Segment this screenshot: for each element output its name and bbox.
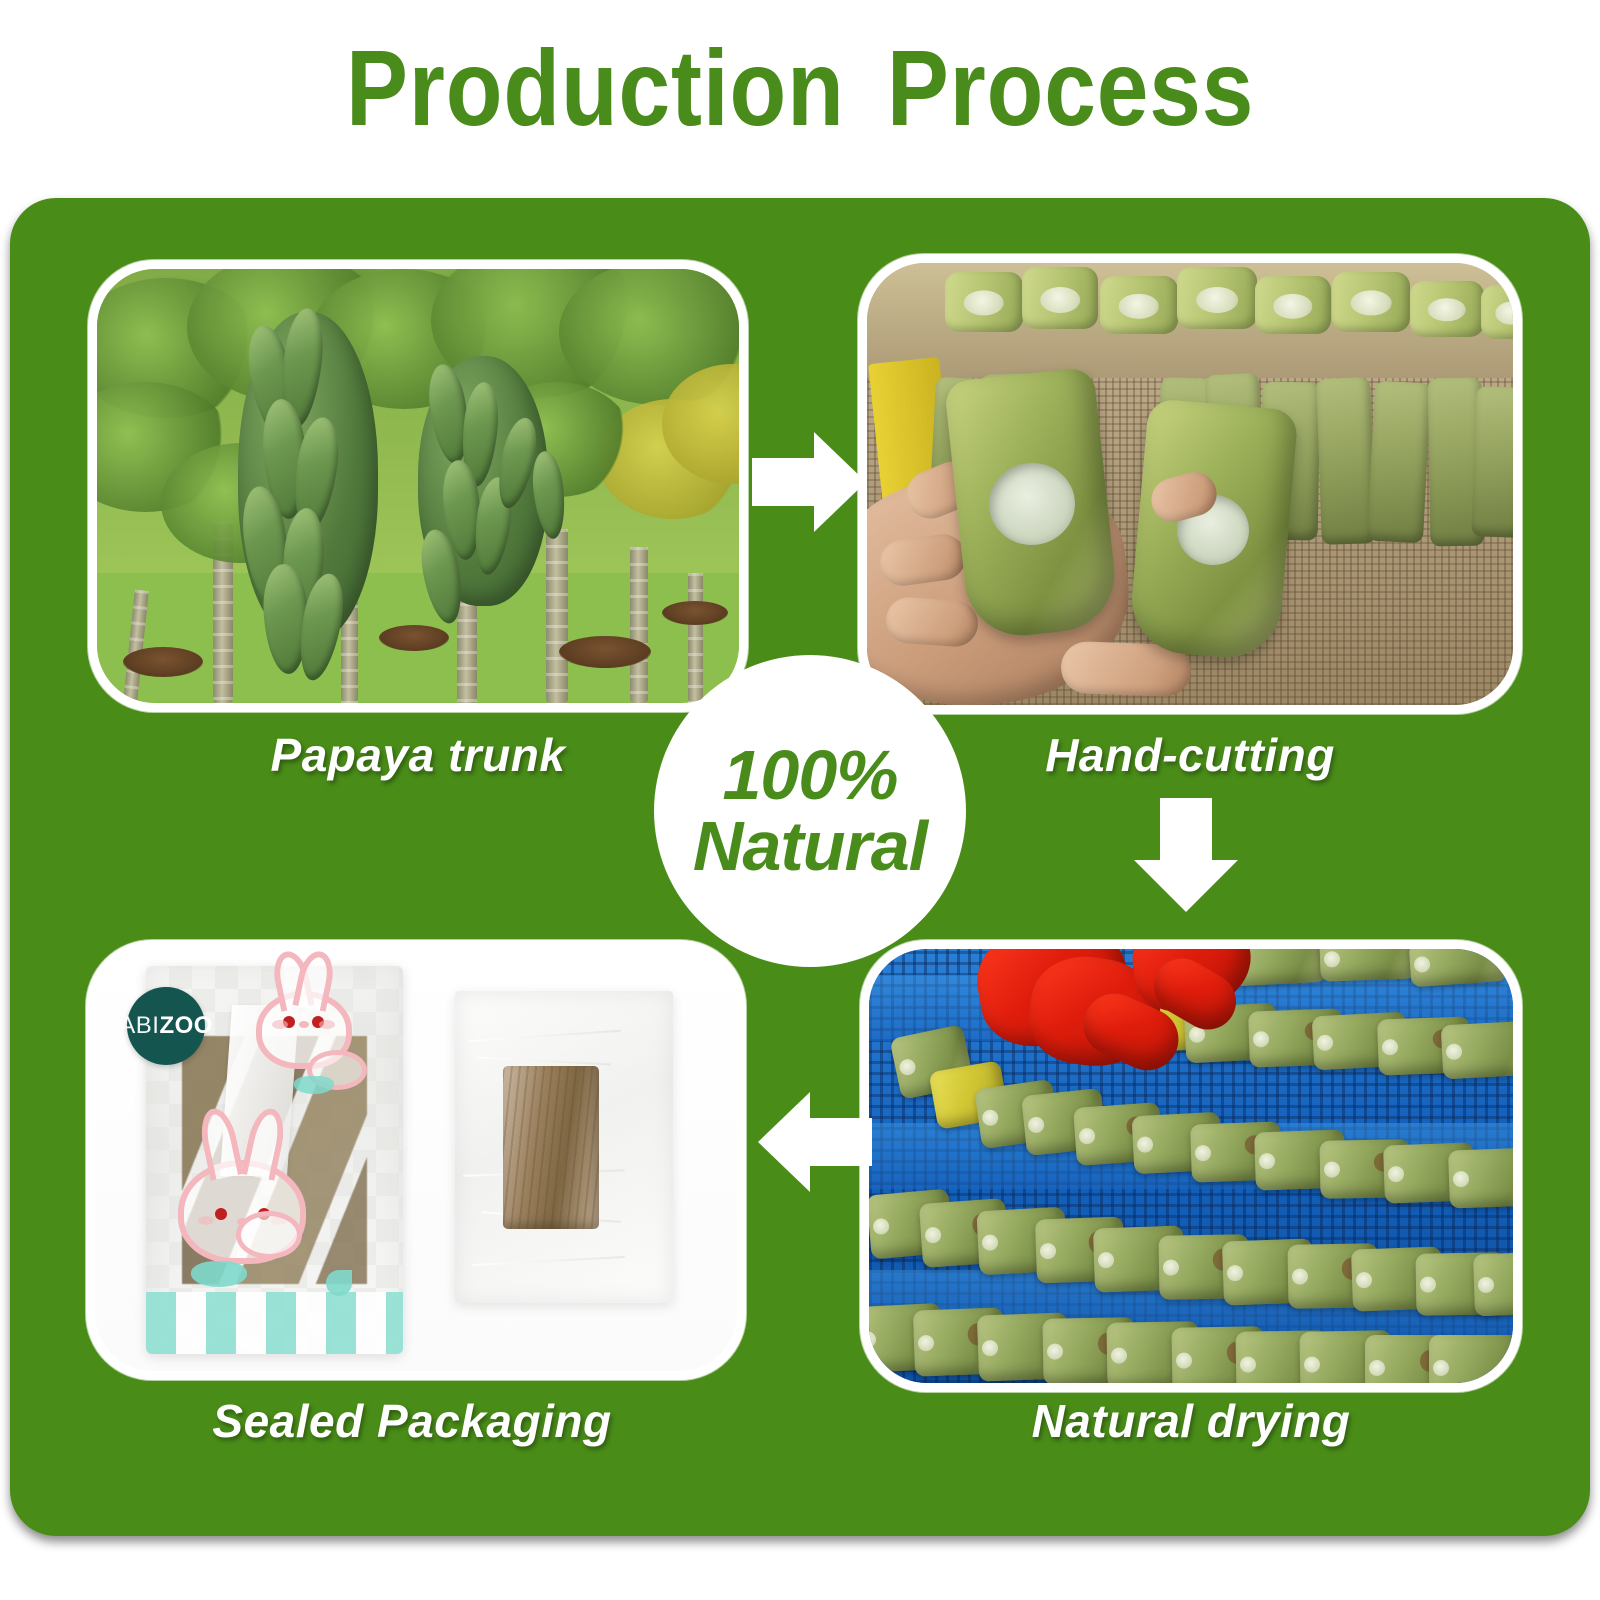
photo-papaya-trunk: [88, 260, 748, 712]
photo-natural-drying: [860, 940, 1522, 1392]
mint-leaf-upper: [294, 1076, 334, 1094]
natural-badge-percent: 100%: [722, 740, 897, 811]
brand-logo-bold: ZOO: [159, 1012, 213, 1039]
hand-cutting-illustration: [867, 263, 1513, 705]
natural-badge: 100% Natural: [654, 655, 966, 967]
bunny-arm-lower: [236, 1211, 302, 1259]
process-board: Papaya trunk: [10, 198, 1590, 1536]
caption-papaya-trunk: Papaya trunk: [88, 728, 748, 782]
page-title: Production Process: [0, 22, 1600, 152]
arrow-right-icon: [752, 426, 866, 538]
natural-badge-label: Natural: [693, 811, 927, 882]
caption-sealed-packaging: Sealed Packaging: [76, 1394, 748, 1448]
caption-natural-drying: Natural drying: [860, 1394, 1522, 1448]
mint-flower-icon: [326, 1270, 352, 1296]
arrow-down-icon: [1128, 798, 1244, 912]
photo-sealed-packaging: ABIZOO: [86, 940, 746, 1380]
photo-hand-cutting: [858, 254, 1522, 714]
orchard-illustration: [97, 269, 739, 703]
natural-drying-illustration: [869, 949, 1513, 1383]
page-title-text: Production Process: [346, 25, 1254, 150]
arrow-left-icon: [758, 1086, 872, 1198]
brand-logo: ABIZOO: [127, 987, 205, 1065]
brand-logo-light: ABI: [119, 1012, 159, 1039]
infographic-page: Production Process: [0, 0, 1600, 1600]
vacuum-sealed-bag: [455, 991, 673, 1303]
sealed-packaging-illustration: ABIZOO: [95, 949, 737, 1371]
